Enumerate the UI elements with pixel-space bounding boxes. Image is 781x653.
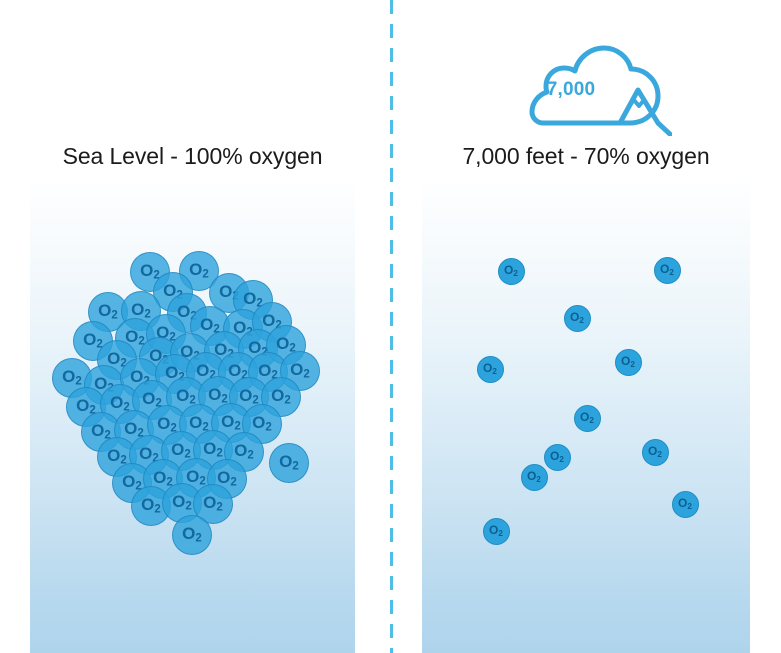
- oxygen-molecule-label: O2: [203, 494, 223, 514]
- oxygen-molecule: O2: [544, 444, 571, 471]
- vertical-dashed-divider: [390, 0, 393, 653]
- oxygen-molecule-label: O2: [252, 414, 272, 434]
- oxygen-molecule-label: O2: [279, 453, 299, 473]
- oxygen-molecule: O2: [642, 439, 669, 466]
- oxygen-molecule-label: O2: [504, 264, 518, 278]
- oxygen-molecule: O2: [615, 349, 642, 376]
- oxygen-comparison-infographic: 7,000 Sea Level - 100% oxygen 7,000 feet…: [0, 0, 781, 653]
- oxygen-molecule-label: O2: [580, 411, 594, 425]
- oxygen-molecule: O2: [574, 405, 601, 432]
- oxygen-molecule: O2: [521, 464, 548, 491]
- oxygen-molecule-label: O2: [221, 413, 241, 433]
- oxygen-molecule-label: O2: [621, 355, 635, 369]
- oxygen-molecule: O2: [172, 515, 212, 555]
- oxygen-molecule-label: O2: [203, 440, 223, 460]
- oxygen-molecule-label: O2: [271, 387, 291, 407]
- oxygen-molecule-label: O2: [527, 470, 541, 484]
- oxygen-molecule-label: O2: [62, 368, 82, 388]
- oxygen-molecule-label: O2: [550, 450, 564, 464]
- oxygen-molecule-label: O2: [660, 263, 674, 277]
- oxygen-molecule-label: O2: [182, 525, 202, 545]
- oxygen-molecule-label: O2: [141, 496, 161, 516]
- sea-level-title: Sea Level - 100% oxygen: [30, 143, 355, 170]
- oxygen-molecule-label: O2: [98, 302, 118, 322]
- oxygen-molecule-label: O2: [189, 261, 209, 281]
- oxygen-molecule-label: O2: [483, 362, 497, 376]
- oxygen-molecule: O2: [477, 356, 504, 383]
- high-altitude-title: 7,000 feet - 70% oxygen: [422, 143, 750, 170]
- oxygen-molecule: O2: [672, 491, 699, 518]
- oxygen-molecule: O2: [483, 518, 510, 545]
- oxygen-molecule-label: O2: [678, 497, 692, 511]
- cloud-altitude-label: 7,000: [538, 79, 604, 101]
- oxygen-molecule-label: O2: [290, 361, 310, 381]
- oxygen-molecule-label: O2: [570, 311, 584, 325]
- oxygen-molecule-label: O2: [648, 445, 662, 459]
- oxygen-molecule-label: O2: [171, 441, 191, 461]
- oxygen-molecule: O2: [564, 305, 591, 332]
- oxygen-molecule-label: O2: [234, 442, 254, 462]
- oxygen-molecule: O2: [654, 257, 681, 284]
- oxygen-molecule-label: O2: [489, 524, 503, 538]
- oxygen-molecule: O2: [269, 443, 309, 483]
- oxygen-molecule-label: O2: [172, 493, 192, 513]
- oxygen-molecule: O2: [498, 258, 525, 285]
